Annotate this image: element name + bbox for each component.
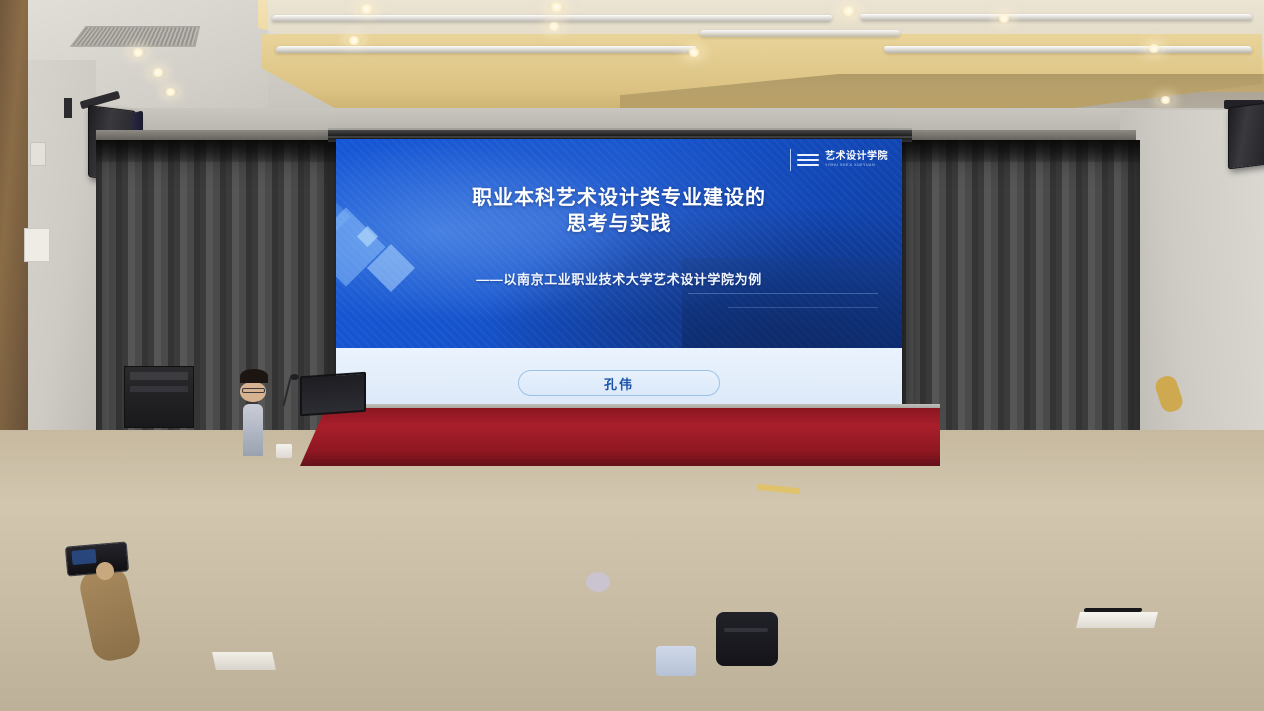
backpack-on-floor[interactable] (716, 612, 778, 666)
slide-decor-line (728, 307, 878, 308)
downlight (1158, 96, 1173, 104)
speaker-mount-bracket (64, 98, 72, 118)
hair-clip (586, 572, 610, 592)
presenter-shirt (243, 404, 263, 456)
ceiling-light-strip (700, 30, 900, 37)
slide-decor-line (688, 293, 878, 294)
av-rack-panel (130, 372, 188, 380)
microphone-head-icon (290, 374, 299, 380)
downlight (996, 14, 1012, 23)
downlight (548, 2, 565, 12)
slide-title-line-1: 职业本科艺术设计类专业建设的 (370, 185, 868, 211)
slide-upper-blue-area: 艺术设计学院 YISHU SHEJI XUEYUAN 职业本科艺术设计类专业建设… (336, 139, 902, 348)
downlight (163, 88, 178, 96)
slide-logo: 艺术设计学院 YISHU SHEJI XUEYUAN (790, 149, 888, 171)
downlight (840, 6, 857, 16)
ceiling-light-strip (275, 46, 697, 53)
downlight (686, 48, 702, 57)
thermos-cup[interactable] (656, 646, 696, 676)
downlight (546, 22, 562, 31)
presenter-hair (240, 369, 268, 383)
logo-divider (790, 149, 791, 171)
wall-notice-sign (24, 228, 50, 262)
presenter-name-pill: 孔伟 (518, 370, 720, 396)
presenter-glasses-icon (242, 388, 265, 393)
slide-title: 职业本科艺术设计类专业建设的 思考与实践 (336, 185, 902, 238)
conference-room-photo: 艺术设计学院 YISHU SHEJI XUEYUAN 职业本科艺术设计类专业建设… (0, 0, 1264, 711)
downlight (1146, 44, 1162, 53)
stage-red-skirt (300, 408, 940, 466)
horizontal-bars-logo-icon (797, 154, 819, 167)
notebook[interactable] (1076, 612, 1158, 628)
slide-subtitle: ——以南京工业职业技术大学艺术设计学院为例 (336, 269, 902, 288)
presenter-name: 孔伟 (604, 374, 634, 393)
downlight (358, 4, 375, 14)
led-presentation-screen: 艺术设计学院 YISHU SHEJI XUEYUAN 职业本科艺术设计类专业建设… (336, 139, 902, 411)
pen[interactable] (1084, 608, 1143, 612)
logo-institution-pinyin: YISHU SHEJI XUEYUAN (825, 164, 888, 168)
downlight (130, 48, 146, 57)
ceiling-light-strip (271, 15, 833, 22)
logo-institution-name: 艺术设计学院 (825, 152, 888, 162)
pa-speaker-right-icon (1228, 103, 1264, 170)
av-rack-panel (130, 386, 188, 392)
smartphone-screen (71, 549, 96, 565)
slide-lower-white-band: 孔伟 (336, 348, 902, 411)
downlight (346, 36, 362, 45)
ceiling-light-strip (883, 46, 1252, 53)
wall-switch-plate[interactable] (30, 142, 46, 166)
backpack-strap (724, 628, 768, 632)
paper-cup[interactable] (276, 444, 292, 458)
floor (0, 430, 1264, 711)
downlight (150, 68, 166, 77)
notebook[interactable] (212, 652, 276, 670)
ceiling-light-strip (859, 14, 1252, 21)
presenter-monitor (300, 372, 366, 417)
slide-title-line-2: 思考与实践 (370, 211, 868, 237)
ceiling-air-vent-icon (70, 26, 200, 47)
